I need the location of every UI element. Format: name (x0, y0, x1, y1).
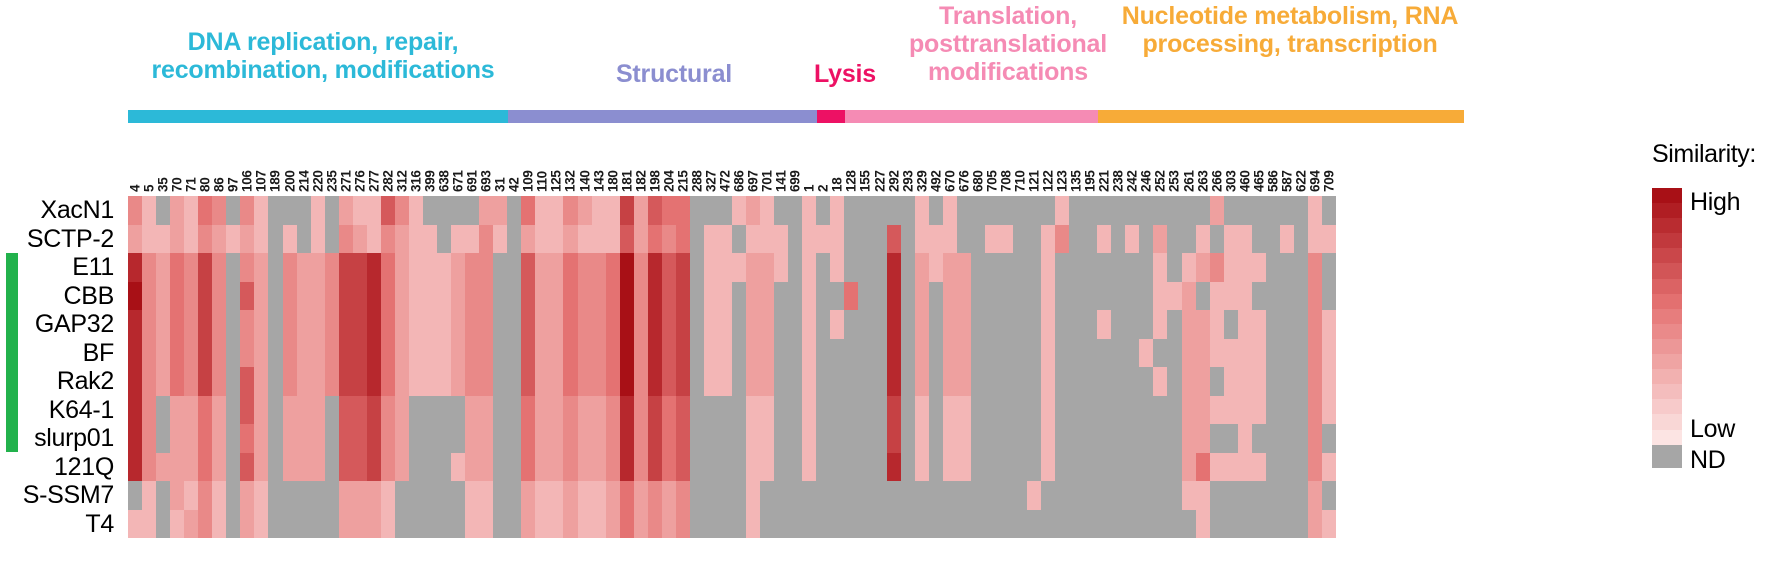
heatmap-cell (423, 510, 437, 539)
heatmap-cell (1041, 396, 1055, 425)
heatmap-cell (1238, 282, 1252, 311)
heatmap-cell (451, 282, 465, 311)
heatmap-cell (1224, 396, 1238, 425)
column-label-text: 71 (184, 178, 199, 192)
heatmap-cell (732, 367, 746, 396)
heatmap-cell (465, 225, 479, 254)
heatmap-cell (268, 396, 282, 425)
heatmap-cell (437, 367, 451, 396)
heatmap-cell (592, 310, 606, 339)
heatmap-cell (578, 396, 592, 425)
column-label-text: 708 (998, 170, 1013, 192)
heatmap-cell (521, 282, 535, 311)
heatmap-cell (1210, 510, 1224, 539)
heatmap-cell (774, 481, 788, 510)
heatmap-cell (1013, 253, 1027, 282)
heatmap-cell (774, 339, 788, 368)
heatmap-cell (409, 481, 423, 510)
heatmap-cell (1294, 282, 1308, 311)
heatmap-cell (1069, 481, 1083, 510)
heatmap-cell (844, 339, 858, 368)
heatmap-row (128, 196, 1336, 225)
heatmap-cell (844, 453, 858, 482)
heatmap-cell (353, 310, 367, 339)
heatmap-cell (212, 339, 226, 368)
heatmap-cell (1139, 367, 1153, 396)
heatmap-cell (1308, 225, 1322, 254)
heatmap-cell (1182, 253, 1196, 282)
heatmap-cell (156, 225, 170, 254)
heatmap-cell (1083, 396, 1097, 425)
column-label: 671 (451, 128, 465, 192)
heatmap-cell (395, 481, 409, 510)
heatmap-cell (887, 253, 901, 282)
heatmap-cell (437, 339, 451, 368)
heatmap-cell (1097, 339, 1111, 368)
heatmap-cell (156, 453, 170, 482)
heatmap-cell (760, 453, 774, 482)
heatmap-cell (353, 196, 367, 225)
heatmap-cell (549, 339, 563, 368)
heatmap-cell (493, 396, 507, 425)
heatmap-cell (957, 396, 971, 425)
heatmap-cell (1139, 510, 1153, 539)
heatmap-cell (1210, 253, 1224, 282)
heatmap-cell (887, 510, 901, 539)
heatmap-cell (212, 424, 226, 453)
heatmap-cell (1041, 367, 1055, 396)
heatmap-cell (718, 424, 732, 453)
heatmap-cell (493, 367, 507, 396)
heatmap-cell (872, 453, 886, 482)
heatmap-cell (929, 453, 943, 482)
legend-nd-label: ND (1690, 446, 1726, 475)
heatmap-cell (395, 339, 409, 368)
heatmap-cell (549, 225, 563, 254)
heatmap-cell (858, 282, 872, 311)
heatmap-cell (844, 510, 858, 539)
column-label-text: 686 (732, 170, 747, 192)
heatmap-cell (704, 225, 718, 254)
heatmap-cell (142, 453, 156, 482)
heatmap-cell (844, 367, 858, 396)
heatmap-cell (1069, 339, 1083, 368)
heatmap-cell (1167, 225, 1181, 254)
column-label: 71 (184, 128, 198, 192)
column-label: 215 (676, 128, 690, 192)
heatmap-cell (507, 424, 521, 453)
column-label: 680 (971, 128, 985, 192)
heatmap-cell (254, 310, 268, 339)
heatmap-cell (774, 367, 788, 396)
heatmap-cell (563, 510, 577, 539)
heatmap-cell (1097, 367, 1111, 396)
heatmap-cell (226, 253, 240, 282)
heatmap-cell (493, 481, 507, 510)
heatmap-cell (662, 424, 676, 453)
column-label: 4 (128, 128, 142, 192)
heatmap-cell (156, 424, 170, 453)
heatmap-cell (1294, 339, 1308, 368)
column-label: 155 (858, 128, 872, 192)
heatmap-cell (648, 510, 662, 539)
heatmap-cell (802, 453, 816, 482)
heatmap-cell (367, 253, 381, 282)
heatmap-cell (1224, 253, 1238, 282)
column-label: 123 (1055, 128, 1069, 192)
column-label: 109 (521, 128, 535, 192)
heatmap-cell (620, 253, 634, 282)
column-label: 195 (1083, 128, 1097, 192)
heatmap-cell (858, 510, 872, 539)
legend-swatch (1652, 354, 1682, 369)
heatmap-cell (1097, 225, 1111, 254)
column-label-text: 140 (577, 170, 592, 192)
heatmap-cell (872, 282, 886, 311)
column-label: 110 (535, 128, 549, 192)
row-label-k64-1: K64-1 (0, 396, 122, 425)
heatmap-cell (971, 339, 985, 368)
column-label: 121 (1027, 128, 1041, 192)
heatmap-cell (184, 225, 198, 254)
heatmap-cell (858, 339, 872, 368)
heatmap-cell (507, 367, 521, 396)
column-label-text: 253 (1167, 170, 1182, 192)
heatmap-cell (1111, 253, 1125, 282)
heatmap-cell (297, 424, 311, 453)
heatmap-cell (1013, 424, 1027, 453)
heatmap-cell (662, 282, 676, 311)
column-label-text: 676 (956, 170, 971, 192)
heatmap-cell (226, 481, 240, 510)
heatmap-cell (1252, 424, 1266, 453)
heatmap-cell (676, 424, 690, 453)
heatmap-row (128, 396, 1336, 425)
heatmap-cell (423, 339, 437, 368)
heatmap-cell (465, 424, 479, 453)
heatmap-cell (297, 367, 311, 396)
heatmap-row (128, 424, 1336, 453)
heatmap-cell (1294, 396, 1308, 425)
heatmap-cell (985, 481, 999, 510)
heatmap-cell (1125, 196, 1139, 225)
heatmap-cell (1182, 396, 1196, 425)
heatmap-cell (226, 225, 240, 254)
heatmap-cell (297, 481, 311, 510)
heatmap-cell (1196, 367, 1210, 396)
heatmap-cell (718, 481, 732, 510)
heatmap-cell (1238, 253, 1252, 282)
column-label: 235 (325, 128, 339, 192)
heatmap-cell (254, 396, 268, 425)
heatmap-cell (578, 510, 592, 539)
heatmap-cell (1069, 453, 1083, 482)
heatmap-cell (606, 339, 620, 368)
heatmap-cell (1266, 310, 1280, 339)
heatmap-cell (1252, 396, 1266, 425)
heatmap-cell (339, 481, 353, 510)
heatmap-cell (690, 481, 704, 510)
heatmap-cell (535, 282, 549, 311)
heatmap-cell (535, 424, 549, 453)
heatmap-cell (606, 367, 620, 396)
column-label: 214 (297, 128, 311, 192)
heatmap-cell (1294, 453, 1308, 482)
heatmap-cell (212, 282, 226, 311)
heatmap-cell (1027, 481, 1041, 510)
heatmap-cell (297, 282, 311, 311)
heatmap-cell (212, 453, 226, 482)
heatmap-cell (732, 424, 746, 453)
heatmap-cell (1196, 453, 1210, 482)
column-label: 140 (578, 128, 592, 192)
heatmap-cell (985, 310, 999, 339)
heatmap-cell (957, 253, 971, 282)
heatmap-cell (423, 453, 437, 482)
heatmap-cell (254, 453, 268, 482)
heatmap-cell (592, 424, 606, 453)
heatmap-cell (858, 225, 872, 254)
heatmap-cell (1252, 253, 1266, 282)
heatmap-cell (830, 282, 844, 311)
heatmap-cell (1266, 367, 1280, 396)
heatmap-cell (170, 196, 184, 225)
column-label: 708 (999, 128, 1013, 192)
heatmap-cell (1252, 481, 1266, 510)
heatmap-cell (1041, 453, 1055, 482)
heatmap-cell (1294, 510, 1308, 539)
legend-swatch (1652, 248, 1682, 263)
heatmap-cell (1153, 310, 1167, 339)
heatmap-cell (634, 282, 648, 311)
column-label: 238 (1111, 128, 1125, 192)
heatmap-cell (971, 367, 985, 396)
heatmap-cell (620, 225, 634, 254)
heatmap-cell (311, 282, 325, 311)
heatmap-cell (943, 310, 957, 339)
heatmap-cell (128, 196, 142, 225)
heatmap-cell (1055, 481, 1069, 510)
heatmap-cell (1238, 453, 1252, 482)
column-label: 220 (311, 128, 325, 192)
heatmap-cell (760, 282, 774, 311)
legend-swatch (1652, 430, 1682, 445)
heatmap-cell (774, 396, 788, 425)
heatmap-cell (1041, 253, 1055, 282)
column-label-text: 80 (198, 178, 213, 192)
heatmap-cell (718, 339, 732, 368)
heatmap-cell (1238, 310, 1252, 339)
heatmap-cell (1196, 196, 1210, 225)
heatmap-cell (985, 253, 999, 282)
heatmap-cell (535, 310, 549, 339)
heatmap-cell (662, 453, 676, 482)
heatmap-cell (367, 424, 381, 453)
heatmap-cell (1280, 453, 1294, 482)
column-label-text: 288 (689, 170, 704, 192)
heatmap-cell (198, 481, 212, 510)
heatmap-row (128, 481, 1336, 510)
heatmap-cell (1013, 367, 1027, 396)
column-label-text: 277 (366, 170, 381, 192)
heatmap-cell (999, 481, 1013, 510)
heatmap-cell (423, 367, 437, 396)
column-label: 107 (254, 128, 268, 192)
heatmap-cell (592, 339, 606, 368)
heatmap-cell (1196, 481, 1210, 510)
heatmap-cell (268, 424, 282, 453)
heatmap-cell (395, 310, 409, 339)
heatmap-cell (563, 196, 577, 225)
heatmap-cell (1069, 253, 1083, 282)
heatmap-cell (1238, 510, 1252, 539)
heatmap-cell (254, 481, 268, 510)
heatmap-cell (367, 196, 381, 225)
heatmap-cell (985, 225, 999, 254)
heatmap-cell (1238, 396, 1252, 425)
heatmap-cell (830, 367, 844, 396)
heatmap-cell (198, 510, 212, 539)
heatmap-cell (1308, 282, 1322, 311)
heatmap-cell (142, 396, 156, 425)
heatmap-cell (535, 510, 549, 539)
row-label-bf: BF (0, 339, 122, 368)
heatmap-cell (1055, 339, 1069, 368)
heatmap-cell (1139, 196, 1153, 225)
heatmap-cell (1069, 367, 1083, 396)
heatmap-cell (423, 282, 437, 311)
heatmap-cell (830, 196, 844, 225)
heatmap-cell (971, 510, 985, 539)
heatmap-cell (901, 339, 915, 368)
column-label-text: 263 (1195, 170, 1210, 192)
heatmap-cell (578, 225, 592, 254)
heatmap-cell (788, 510, 802, 539)
heatmap-cell (184, 396, 198, 425)
heatmap-cell (1280, 282, 1294, 311)
heatmap-cell (367, 510, 381, 539)
heatmap-cell (339, 453, 353, 482)
heatmap-cell (999, 339, 1013, 368)
heatmap-cell (690, 225, 704, 254)
heatmap-cell (549, 453, 563, 482)
heatmap-cell (1027, 196, 1041, 225)
heatmap-cell (1083, 367, 1097, 396)
heatmap-cell (1069, 396, 1083, 425)
heatmap-cell (465, 453, 479, 482)
heatmap-cell (872, 396, 886, 425)
legend-swatch (1652, 339, 1682, 354)
heatmap-cell (1182, 225, 1196, 254)
heatmap-cell (732, 510, 746, 539)
heatmap-cell (774, 310, 788, 339)
heatmap-cell (872, 481, 886, 510)
heatmap-cell (1153, 367, 1167, 396)
heatmap-cell (1210, 282, 1224, 311)
heatmap-cell (704, 253, 718, 282)
heatmap-cell (788, 310, 802, 339)
heatmap-cell (648, 225, 662, 254)
column-label-text: 135 (1069, 170, 1084, 192)
column-label-text: 132 (563, 170, 578, 192)
column-label-text: 70 (170, 178, 185, 192)
column-label: 701 (760, 128, 774, 192)
heatmap-cell (985, 510, 999, 539)
heatmap-cell (915, 225, 929, 254)
heatmap-cell (830, 453, 844, 482)
heatmap-cell (957, 339, 971, 368)
heatmap-cell (479, 367, 493, 396)
heatmap-cell (1294, 481, 1308, 510)
column-label-text: 694 (1307, 170, 1322, 192)
heatmap-cell (311, 481, 325, 510)
heatmap-cell (353, 225, 367, 254)
legend-ramp-wrap: High Low ND (1652, 188, 1682, 468)
heatmap-cell (156, 310, 170, 339)
heatmap-cell (1322, 481, 1336, 510)
heatmap-cell (1252, 225, 1266, 254)
heatmap-cell (957, 196, 971, 225)
column-label: 128 (844, 128, 858, 192)
heatmap-cell (367, 453, 381, 482)
heatmap-cell (437, 453, 451, 482)
heatmap-cell (760, 253, 774, 282)
column-label-text: 221 (1097, 170, 1112, 192)
column-label-text: 622 (1293, 170, 1308, 192)
heatmap-cell (409, 196, 423, 225)
heatmap-cell (226, 367, 240, 396)
heatmap-cell (381, 367, 395, 396)
heatmap-cell (1125, 253, 1139, 282)
heatmap-cell (170, 367, 184, 396)
heatmap-cell (367, 367, 381, 396)
heatmap-cell (563, 282, 577, 311)
heatmap-cell (240, 310, 254, 339)
heatmap-cell (858, 481, 872, 510)
legend-nd-swatch (1652, 445, 1682, 468)
heatmap-cell (1153, 225, 1167, 254)
heatmap-cell (212, 367, 226, 396)
heatmap-cell (999, 453, 1013, 482)
heatmap-cell (1125, 310, 1139, 339)
heatmap-cell (1055, 196, 1069, 225)
heatmap-cell (620, 310, 634, 339)
heatmap-cell (816, 196, 830, 225)
heatmap-cell (1153, 339, 1167, 368)
heatmap-cell (1308, 481, 1322, 510)
heatmap-cell (929, 424, 943, 453)
heatmap-cell (1153, 481, 1167, 510)
heatmap-cell (915, 339, 929, 368)
heatmap-cell (1210, 367, 1224, 396)
heatmap-cell (381, 396, 395, 425)
category-title-lysis: Lysis (790, 60, 900, 88)
heatmap-cell (816, 424, 830, 453)
heatmap-cell (1224, 339, 1238, 368)
category-bar-segment-3 (845, 110, 1098, 123)
heatmap-cell (493, 510, 507, 539)
column-label: 709 (1322, 128, 1336, 192)
heatmap-cell (479, 310, 493, 339)
heatmap-cell (451, 453, 465, 482)
column-label: 135 (1069, 128, 1083, 192)
heatmap-cell (1294, 253, 1308, 282)
column-label-text: 638 (437, 170, 452, 192)
column-label-text: 312 (394, 170, 409, 192)
heatmap-cell (662, 510, 676, 539)
column-label: 86 (212, 128, 226, 192)
heatmap-cell (479, 396, 493, 425)
